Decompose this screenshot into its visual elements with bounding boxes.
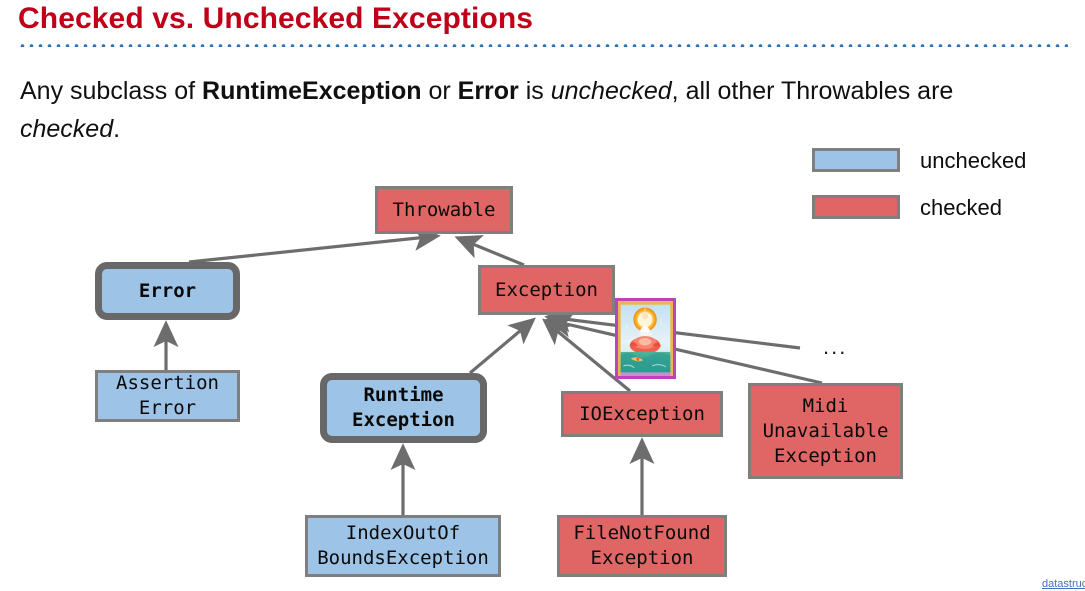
- footer-source-link[interactable]: datastructu: [1042, 578, 1085, 590]
- node-runtime-exception[interactable]: Runtime Exception: [320, 373, 487, 443]
- legend-label-unchecked: unchecked: [920, 148, 1026, 174]
- lead-italic-checked: checked: [20, 115, 113, 143]
- lead-paragraph: Any subclass of RuntimeException or Erro…: [20, 72, 1030, 148]
- buddha-on-lotus-illustration: [618, 301, 673, 376]
- node-assertion-error[interactable]: Assertion Error: [95, 370, 240, 422]
- legend-label-checked: checked: [920, 195, 1002, 221]
- buddha-on-lotus-image: [615, 298, 676, 379]
- lead-text-5: .: [113, 115, 120, 143]
- lead-text-1: Any subclass of: [20, 77, 202, 105]
- lead-text-3: is: [519, 77, 551, 105]
- legend-swatch-checked: [812, 195, 900, 219]
- node-exception[interactable]: Exception: [478, 265, 615, 315]
- legend-swatch-unchecked: [812, 148, 900, 172]
- edge-runtimeexception-exception: [470, 320, 533, 373]
- lead-text-4: , all other Throwables are: [672, 77, 954, 105]
- node-error[interactable]: Error: [95, 262, 240, 320]
- node-midi-unavailable-exception[interactable]: Midi Unavailable Exception: [748, 383, 903, 479]
- node-indexoutofboundsexception[interactable]: IndexOutOf BoundsException: [305, 515, 501, 577]
- lead-bold-runtimeexception: RuntimeException: [202, 77, 421, 105]
- edge-exception-throwable: [458, 238, 524, 265]
- edge-midi-exception: [549, 320, 822, 383]
- node-throwable[interactable]: Throwable: [375, 186, 513, 234]
- page-title: Checked vs. Unchecked Exceptions: [18, 2, 533, 36]
- title-divider: [18, 43, 1068, 47]
- lead-text-2: or: [422, 77, 458, 105]
- edge-error-throwable: [189, 236, 437, 262]
- lead-italic-unchecked: unchecked: [551, 77, 672, 105]
- slide-canvas: Checked vs. Unchecked Exceptions Any sub…: [0, 0, 1085, 591]
- lead-bold-error: Error: [458, 77, 519, 105]
- node-ioexception[interactable]: IOException: [561, 391, 723, 437]
- node-filenotfoundexception[interactable]: FileNotFound Exception: [557, 515, 727, 577]
- ellipsis-label: ...: [823, 334, 847, 360]
